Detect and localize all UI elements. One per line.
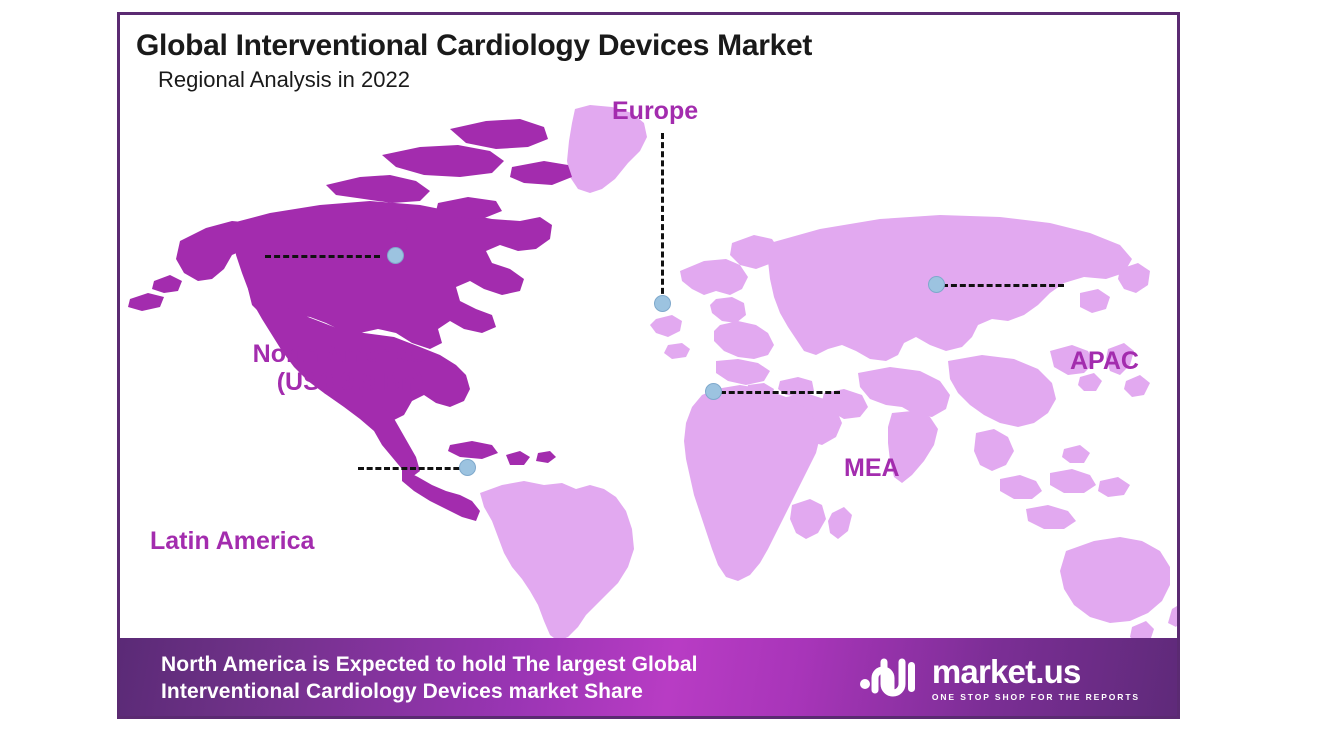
map-marker-north-america[interactable]: [387, 247, 404, 264]
region-label-latin-america[interactable]: Latin America: [150, 527, 314, 555]
region-label-north-america[interactable]: North America (US$ 9.9 Bn): [134, 340, 424, 396]
region-label-north-america-name: North America: [253, 340, 424, 368]
footer-banner-line1: North America is Expected to hold The la…: [161, 653, 698, 676]
leader-line-europe: [661, 133, 664, 303]
map-marker-mea[interactable]: [705, 383, 722, 400]
leader-line-latin-america: [358, 467, 468, 470]
map-marker-europe[interactable]: [654, 295, 671, 312]
infographic-card: Global Interventional Cardiology Devices…: [117, 12, 1180, 719]
region-label-mea[interactable]: MEA: [844, 454, 900, 482]
region-label-apac[interactable]: APAC: [1070, 347, 1139, 375]
market-us-logo-icon: [858, 654, 920, 703]
leader-line-mea: [720, 391, 840, 394]
leader-line-apac: [942, 284, 1064, 287]
map-annotations: Europe North America (US$ 9.9 Bn) APAC M…: [120, 15, 1180, 643]
region-value-north-america: (US$ 9.9 Bn): [134, 368, 424, 396]
brand-tagline: ONE STOP SHOP FOR THE REPORTS: [932, 692, 1140, 702]
leader-line-north-america: [265, 255, 380, 258]
footer-banner-text: North America is Expected to hold The la…: [161, 652, 698, 706]
region-label-europe[interactable]: Europe: [612, 97, 698, 125]
footer-banner: North America is Expected to hold The la…: [117, 638, 1180, 719]
footer-banner-line2: Interventional Cardiology Devices market…: [161, 679, 698, 706]
brand-logo-text: market.us ONE STOP SHOP FOR THE REPORTS: [932, 655, 1140, 702]
brand-wordmark: market.us: [932, 655, 1081, 688]
brand-logo[interactable]: market.us ONE STOP SHOP FOR THE REPORTS: [858, 654, 1162, 703]
map-marker-apac[interactable]: [928, 276, 945, 293]
map-marker-latin-america[interactable]: [459, 459, 476, 476]
